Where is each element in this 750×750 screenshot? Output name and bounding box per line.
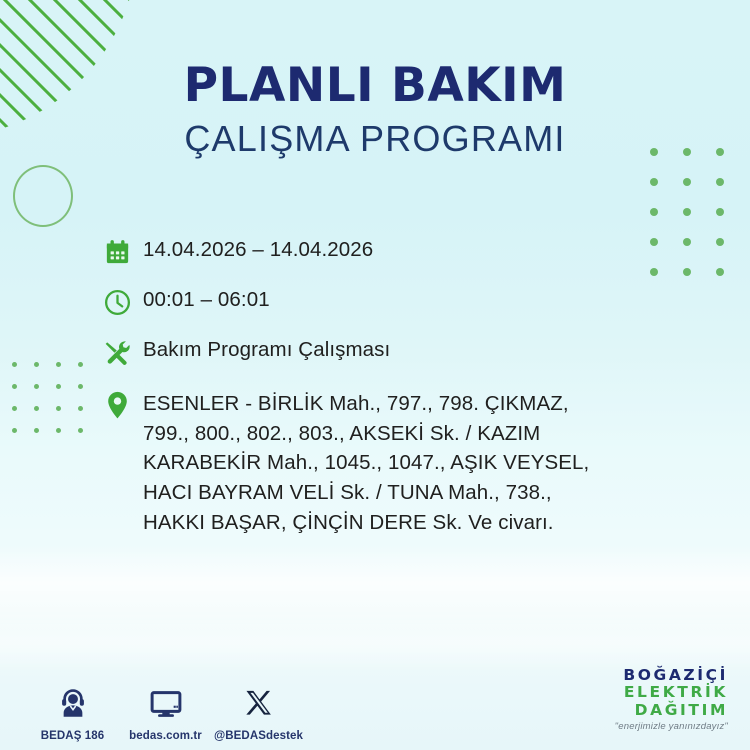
clock-icon	[103, 286, 143, 317]
dot-grid-right-decoration	[650, 148, 749, 298]
info-row-time: 00:01 – 06:01	[103, 286, 663, 317]
address-line: HACI BAYRAM VELİ Sk. / TUNA Mah., 738.,	[143, 478, 589, 508]
contact-website[interactable]: bedas.com.tr	[119, 683, 212, 742]
time-range-text: 00:01 – 06:01	[143, 286, 270, 310]
x-twitter-icon	[212, 683, 305, 725]
logo-line-elektrik: ELEKTRİK	[615, 684, 728, 701]
monitor-icon	[119, 683, 212, 725]
logo-line-bogazici: BOĞAZİÇİ	[615, 667, 728, 684]
footer-contacts: BEDAŞ 186 bedas.com.tr @BEDASdestek	[26, 683, 305, 742]
dot-grid-left-decoration	[12, 362, 100, 450]
info-list: 14.04.2026 – 14.04.2026 00:01 – 06:01 Ba…	[103, 236, 663, 557]
location-pin-icon	[103, 386, 143, 421]
page-title: PLANLI BAKIM	[0, 62, 750, 109]
info-row-worktype: Bakım Programı Çalışması	[103, 336, 663, 367]
bedas-logo: BOĞAZİÇİ ELEKTRİK DAĞITIM "enerjimizle y…	[615, 667, 728, 732]
address-text: ESENLER - BİRLİK Mah., 797., 798. ÇIKMAZ…	[143, 386, 589, 538]
info-row-date: 14.04.2026 – 14.04.2026	[103, 236, 663, 267]
logo-line-dagitim: DAĞITIM	[615, 702, 728, 719]
contact-phone[interactable]: BEDAŞ 186	[26, 683, 119, 742]
page-subtitle: ÇALIŞMA PROGRAMI	[0, 121, 750, 157]
support-agent-icon	[26, 683, 119, 725]
header: PLANLI BAKIM ÇALIŞMA PROGRAMI	[0, 62, 750, 157]
address-line: HAKKI BAŞAR, ÇİNÇİN DERE Sk. Ve civarı.	[143, 508, 589, 538]
date-range-text: 14.04.2026 – 14.04.2026	[143, 236, 373, 260]
contact-twitter-label: @BEDASdestek	[212, 730, 305, 742]
logo-slogan: "enerjimizle yanınızdayız"	[615, 721, 728, 732]
tools-icon	[103, 336, 143, 367]
contact-phone-label: BEDAŞ 186	[26, 730, 119, 742]
address-line: ESENLER - BİRLİK Mah., 797., 798. ÇIKMAZ…	[143, 389, 589, 419]
contact-website-label: bedas.com.tr	[119, 730, 212, 742]
calendar-icon	[103, 236, 143, 267]
address-line: 799., 800., 802., 803., AKSEKİ Sk. / KAZ…	[143, 419, 589, 449]
footer: BEDAŞ 186 bedas.com.tr @BEDASdestek	[0, 640, 750, 750]
address-line: KARABEKİR Mah., 1045., 1047., AŞIK VEYSE…	[143, 448, 589, 478]
info-row-address: ESENLER - BİRLİK Mah., 797., 798. ÇIKMAZ…	[103, 386, 663, 538]
work-type-text: Bakım Programı Çalışması	[143, 336, 390, 360]
contact-twitter[interactable]: @BEDASdestek	[212, 683, 305, 742]
circle-outline-decoration	[13, 165, 73, 227]
